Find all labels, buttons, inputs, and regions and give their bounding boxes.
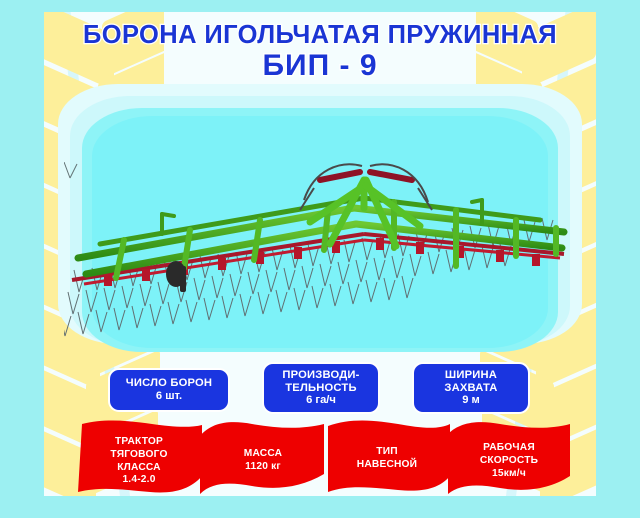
ribbon-rabochaya-skorost[interactable]: РАБОЧАЯ СКОРОСТЬ 15км/ч bbox=[442, 422, 576, 496]
title-line-1: БОРОНА ИГОЛЬЧАТАЯ ПРУЖИННАЯ bbox=[44, 22, 596, 48]
spec-box-proizvoditelnost[interactable]: ПРОИЗВОДИ- ТЕЛЬНОСТЬ 6 га/ч bbox=[262, 362, 380, 414]
ribbon-row: ТРАКТОР ТЯГОВОГО КЛАССА 1.4-2.0 МАССА 11… bbox=[44, 416, 596, 496]
spec-box-chislo-boron[interactable]: ЧИСЛО БОРОН 6 шт. bbox=[108, 368, 230, 412]
ribbon-text: РАБОЧАЯ СКОРОСТЬ 15км/ч bbox=[442, 442, 576, 480]
poster-root: БОРОНА ИГОЛЬЧАТАЯ ПРУЖИННАЯ БИП - 9 bbox=[0, 0, 640, 518]
poster-card: БОРОНА ИГОЛЬЧАТАЯ ПРУЖИННАЯ БИП - 9 bbox=[44, 12, 596, 496]
spec-box-label-1: ПРОИЗВОДИ- bbox=[282, 369, 359, 382]
spec-box-shirina-zahvata[interactable]: ШИРИНА ЗАХВАТА 9 м bbox=[412, 362, 530, 414]
title-line-2: БИП - 9 bbox=[44, 51, 596, 82]
spec-box-value: 6 шт. bbox=[156, 390, 182, 403]
spec-box-row: ЧИСЛО БОРОН 6 шт. ПРОИЗВОДИ- ТЕЛЬНОСТЬ 6… bbox=[44, 358, 596, 420]
spec-box-value: 6 га/ч bbox=[306, 394, 336, 407]
ribbon-tip[interactable]: ТИП НАВЕСНОЙ bbox=[320, 420, 454, 496]
spec-box-value: 9 м bbox=[462, 394, 480, 407]
spring-tine-harrow-illustration bbox=[64, 162, 584, 357]
spec-box-label: ЧИСЛО БОРОН bbox=[126, 377, 212, 390]
ribbon-text: ТРАКТОР ТЯГОВОГО КЛАССА 1.4-2.0 bbox=[72, 436, 206, 487]
ribbon-massa[interactable]: МАССА 1120 кг bbox=[196, 422, 330, 496]
ribbon-text: ТИП НАВЕСНОЙ bbox=[320, 446, 454, 472]
ribbon-text: МАССА 1120 кг bbox=[196, 448, 330, 474]
spec-box-label-2: ТЕЛЬНОСТЬ bbox=[285, 382, 356, 395]
ribbon-traktor-tyagovogo-klassa[interactable]: ТРАКТОР ТЯГОВОГО КЛАССА 1.4-2.0 bbox=[72, 420, 206, 496]
spec-box-label-1: ШИРИНА bbox=[445, 369, 497, 382]
page-title: БОРОНА ИГОЛЬЧАТАЯ ПРУЖИННАЯ БИП - 9 bbox=[44, 22, 596, 82]
spec-box-label-2: ЗАХВАТА bbox=[444, 382, 497, 395]
